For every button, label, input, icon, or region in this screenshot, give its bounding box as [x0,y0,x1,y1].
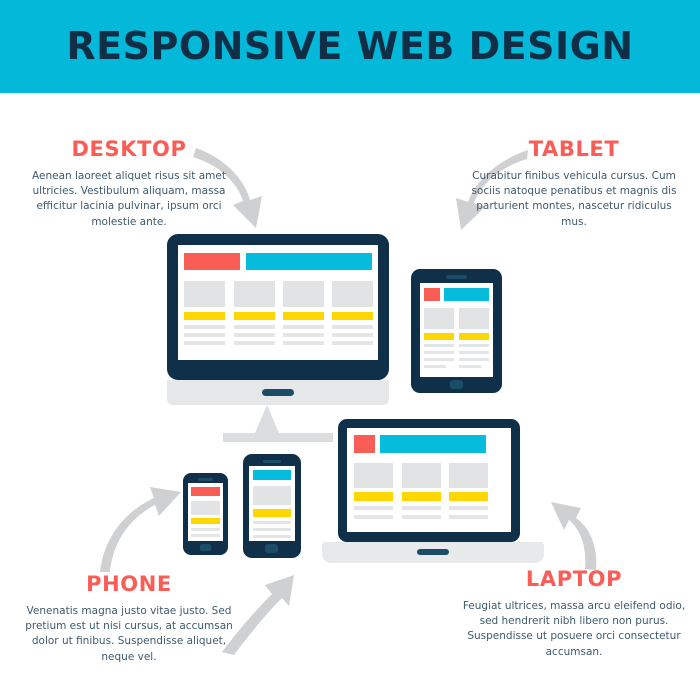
laptop-card-title-1 [354,492,393,501]
desktop-card-title-1 [184,312,225,320]
phone-small-card-title [191,518,220,524]
section-tablet-body: Curabitur finibus vehicula cursus. Cum s… [462,169,686,230]
phone-large-home-button [265,544,278,553]
desktop-text-line [234,325,275,329]
laptop-text-line [449,506,488,510]
desktop-text-line [184,341,225,345]
phone-large-card-image [253,486,291,505]
arrow-laptop-to-device [551,502,596,570]
desktop-text-line [283,333,324,337]
tablet-navbar-block [444,288,489,301]
desktop-text-line [234,341,275,345]
laptop-card-image-3 [449,463,488,488]
desktop-text-line [332,325,373,329]
laptop-illustration [322,419,552,561]
desktop-text-line [332,333,373,337]
phone-small-card-image [191,501,220,515]
desktop-card-image-4 [332,281,373,307]
laptop-text-line [354,515,393,519]
laptop-screen [347,428,511,532]
desktop-card-title-4 [332,312,373,320]
tablet-text-line [424,365,446,368]
desktop-text-line [234,333,275,337]
tablet-text-line [424,358,454,361]
phone-large-card-title [253,509,291,517]
phone-large-screen [249,466,295,541]
desktop-text-line [184,325,225,329]
desktop-text-line [184,333,225,337]
section-laptop-body: Feugiat ultrices, massa arcu eleifend od… [460,599,688,660]
laptop-card-title-3 [449,492,488,501]
tablet-card-title-2 [459,333,489,340]
desktop-screen [178,245,378,360]
desktop-text-line [332,341,373,345]
tablet-screen [420,283,493,377]
phone-small-speaker-nub [198,478,213,481]
desktop-text-line [283,341,324,345]
laptop-logo-block [354,435,375,453]
desktop-logo-block [184,253,240,270]
page-title: RESPONSIVE WEB DESIGN [0,0,700,93]
section-desktop: DESKTOP Aenean laoreet aliquet risus sit… [18,139,240,230]
tablet-text-line [424,351,454,354]
tablet-text-line [424,344,454,347]
tablet-card-image-1 [424,308,454,329]
phone-large-header-block [253,470,291,480]
section-phone: PHONE Venenatis magna justo vitae justo.… [18,574,240,665]
tablet-text-line [459,365,481,368]
laptop-text-line [402,506,441,510]
laptop-trackpad-nub [417,549,449,555]
laptop-card-title-2 [402,492,441,501]
phone-small-home-button [200,544,211,551]
phone-large-text-line [253,528,291,531]
laptop-navbar-block [380,435,486,453]
desktop-monitor-illustration [167,234,389,439]
phone-small-text-line [191,528,220,531]
infographic-page: RESPONSIVE WEB DESIGN DESKTOP Aenean lao… [0,0,700,700]
desktop-card-title-2 [234,312,275,320]
desktop-card-image-2 [234,281,275,307]
laptop-card-image-2 [402,463,441,488]
laptop-card-image-1 [354,463,393,488]
phone-small-screen [188,483,223,541]
tablet-illustration [411,269,502,393]
phone-large-speaker-nub [263,460,281,463]
desktop-stand [255,405,279,433]
section-tablet: TABLET Curabitur finibus vehicula cursus… [462,139,686,230]
laptop-text-line [402,515,441,519]
tablet-speaker-nub [446,275,467,279]
section-laptop-heading: LAPTOP [460,569,688,590]
phone-small-illustration [183,473,228,555]
tablet-text-line [459,344,489,347]
section-phone-heading: PHONE [18,574,240,595]
phone-large-illustration [243,454,301,558]
desktop-card-title-3 [283,312,324,320]
section-desktop-heading: DESKTOP [18,139,240,160]
desktop-card-image-1 [184,281,225,307]
phone-small-text-line [191,534,220,537]
tablet-card-title-1 [424,333,454,340]
desktop-text-line [283,325,324,329]
tablet-text-line [459,358,489,361]
laptop-text-line [354,506,393,510]
tablet-text-line [459,351,489,354]
desktop-brand-nub [262,389,294,396]
phone-large-text-line [253,521,291,524]
desktop-navbar-block [246,253,372,270]
desktop-base [223,433,333,442]
tablet-home-button [450,380,463,389]
tablet-card-image-2 [459,308,489,329]
laptop-text-line [449,515,488,519]
arrow-phone-to-device [100,487,181,572]
desktop-card-image-3 [283,281,324,307]
section-tablet-heading: TABLET [462,139,686,160]
section-phone-body: Venenatis magna justo vitae justo. Sed p… [18,604,240,665]
section-desktop-body: Aenean laoreet aliquet risus sit amet ul… [18,169,240,230]
section-laptop: LAPTOP Feugiat ultrices, massa arcu elei… [460,569,688,660]
phone-large-text-line [253,535,291,538]
tablet-logo-block [424,288,440,301]
phone-small-header-block [191,487,220,496]
